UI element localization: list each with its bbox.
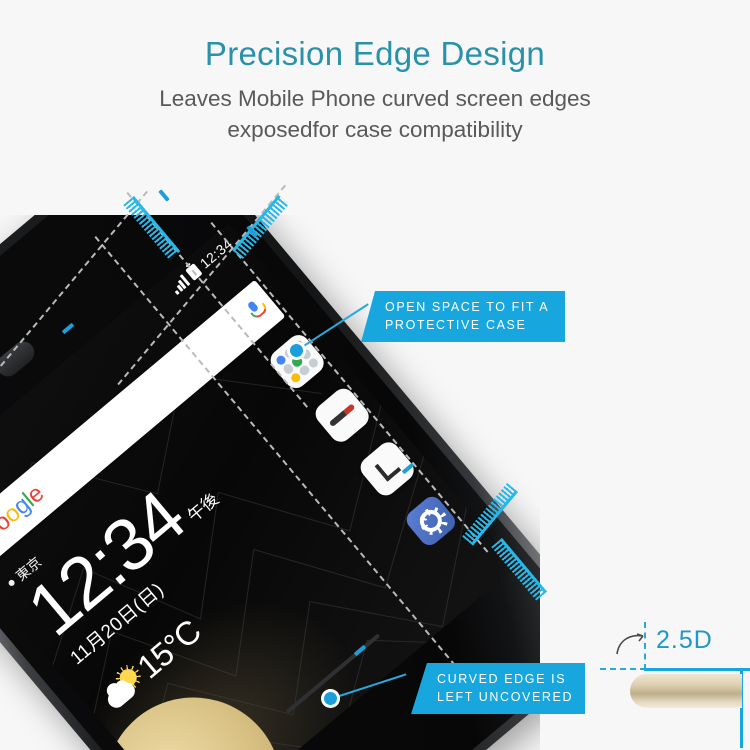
curve-arrow-icon: [614, 632, 648, 658]
open-space-callout-line-2: PROTECTIVE CASE: [385, 316, 551, 334]
wallpaper-glyph: &: [98, 745, 195, 750]
subtitle-line-2: exposedfor case compatibility: [0, 115, 750, 145]
curved-edge-callout-line-2: LEFT UNCOVERED: [437, 688, 571, 706]
edge-tick-top: [158, 189, 169, 202]
earpiece-speaker: [0, 337, 39, 381]
curved-edge-callout: CURVED EDGE IS LEFT UNCOVERED: [411, 663, 585, 714]
open-space-callout-line-1: OPEN SPACE TO FIT A: [385, 298, 551, 316]
page-title: Precision Edge Design: [0, 36, 750, 72]
page-subtitle: Leaves Mobile Phone curved screen edges …: [0, 84, 750, 145]
microphone-icon[interactable]: [244, 298, 267, 322]
product-infographic: Precision Edge Design Leaves Mobile Phon…: [0, 0, 750, 750]
edge-profile-diagram: 2.5D: [608, 612, 750, 750]
subtitle-line-1: Leaves Mobile Phone curved screen edges: [0, 84, 750, 114]
glass-edge-profile: [630, 674, 742, 708]
header: Precision Edge Design Leaves Mobile Phon…: [0, 0, 750, 145]
diagram-top-edge-line: [644, 668, 750, 671]
diagram-horizontal-guide: [600, 668, 646, 670]
open-space-callout: OPEN SPACE TO FIT A PROTECTIVE CASE: [361, 291, 565, 342]
diagram-label: 2.5D: [656, 626, 713, 655]
curved-edge-callout-line-1: CURVED EDGE IS: [437, 670, 571, 688]
